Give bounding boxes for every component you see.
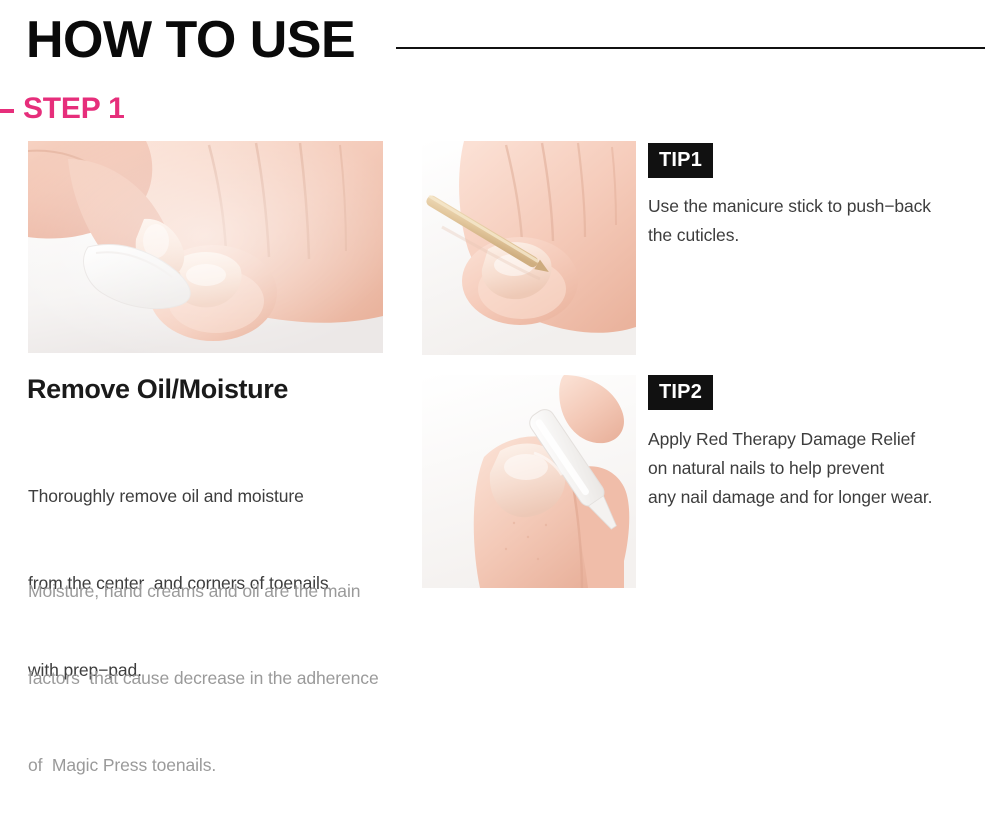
page-title: HOW TO USE <box>26 14 355 66</box>
photo-red-therapy-applicator-image <box>422 375 636 588</box>
photo-red-therapy-applicator <box>422 375 636 588</box>
tip1-line-2: the cuticles. <box>648 221 931 250</box>
tip2-badge: TIP2 <box>648 375 713 410</box>
secondary-paragraph: Moisture, hand creams and oil are the ma… <box>28 519 379 838</box>
primary-line-1: Thoroughly remove oil and moisture <box>28 482 328 511</box>
tip1-badge: TIP1 <box>648 143 713 178</box>
photo-remove-oil-moisture <box>28 141 383 353</box>
tip2-line-1: Apply Red Therapy Damage Relief <box>648 425 932 454</box>
photo-manicure-stick <box>422 141 636 355</box>
section-heading: Remove Oil/Moisture <box>27 374 288 405</box>
how-to-use-page: HOW TO USE STEP 1 <box>0 0 1000 638</box>
photo-manicure-stick-image <box>422 141 636 355</box>
title-divider <box>396 47 985 49</box>
tip1-text: Use the manicure stick to push−back the … <box>648 192 931 250</box>
secondary-line-2: factors that cause decrease in the adher… <box>28 664 379 693</box>
secondary-line-1: Moisture, hand creams and oil are the ma… <box>28 577 379 606</box>
tip2-text: Apply Red Therapy Damage Relief on natur… <box>648 425 932 512</box>
secondary-line-3: of Magic Press toenails. <box>28 751 379 780</box>
tip2-line-2: on natural nails to help prevent <box>648 454 932 483</box>
dash-icon <box>0 109 14 113</box>
photo-remove-oil-moisture-image <box>28 141 383 353</box>
tip1-line-1: Use the manicure stick to push−back <box>648 192 931 221</box>
step-label: STEP 1 <box>23 94 125 124</box>
step-label-group: STEP 1 <box>0 94 125 124</box>
tip2-line-3: any nail damage and for longer wear. <box>648 483 932 512</box>
